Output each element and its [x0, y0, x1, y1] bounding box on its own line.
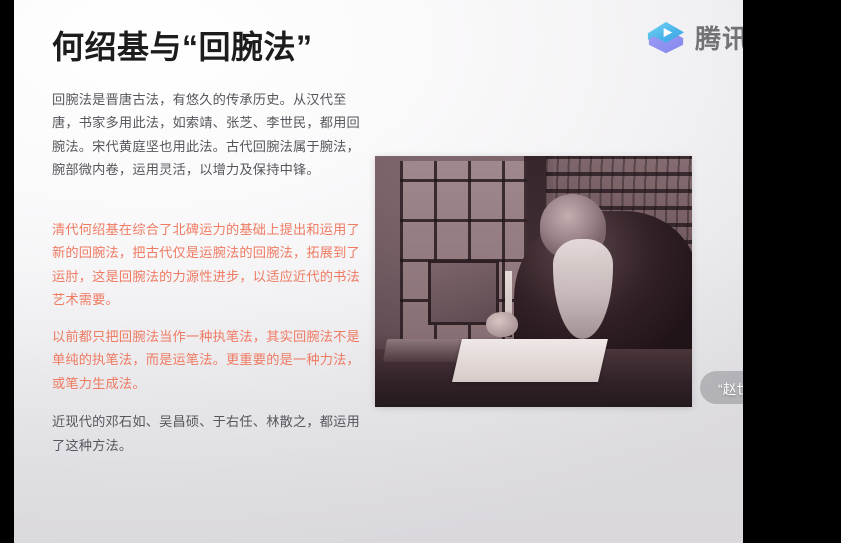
paragraph-method-clarification: 以前都只把回腕法当作一种执笔法，其实回腕法不是单纯的执笔法，而是运笔法。更重要的…	[52, 325, 364, 396]
figure-hand	[486, 312, 518, 337]
paragraph-spacer	[52, 395, 364, 410]
historic-calligrapher-photo	[375, 156, 692, 407]
presentation-slide: 何绍基与“回腕法” 回腕法是晋唐古法，有悠久的传承历史。从汉代至唐，书家多用此法…	[14, 0, 743, 543]
gift-notification-text: “赵世奇” 送给老	[718, 378, 743, 398]
slide-title: 何绍基与“回腕法”	[52, 30, 364, 66]
graduation-cap-play-icon	[645, 19, 687, 59]
gift-notification-toast: “赵世奇” 送给老	[700, 371, 743, 404]
slide-content-column: 何绍基与“回腕法” 回腕法是晋唐古法，有悠久的传承历史。从汉代至唐，书家多用此法…	[52, 30, 364, 457]
paragraph-modern-practitioners: 近现代的邓石如、吴昌硕、于右任、林散之，都运用了这种方法。	[52, 410, 364, 457]
paragraph-intro: 回腕法是晋唐古法，有悠久的传承历史。从汉代至唐，书家多用此法，如索靖、张芝、李世…	[52, 88, 364, 182]
photo-canvas	[375, 156, 692, 407]
ink-stone	[383, 339, 469, 362]
paragraph-qing-dynasty-innovation: 清代何绍基在综合了北碑运力的基础上提出和运用了新的回腕法，把古代仅是运腕法的回腕…	[52, 218, 364, 312]
paragraph-spacer	[52, 182, 364, 218]
paragraph-spacer	[52, 312, 364, 325]
watermark-brand-text: 腾讯课堂	[695, 26, 743, 52]
tencent-classroom-watermark: 腾讯课堂	[645, 19, 743, 59]
writing-paper	[452, 339, 608, 382]
video-player-viewport: 何绍基与“回腕法” 回腕法是晋唐古法，有悠久的传承历史。从汉代至唐，书家多用此法…	[0, 0, 841, 543]
